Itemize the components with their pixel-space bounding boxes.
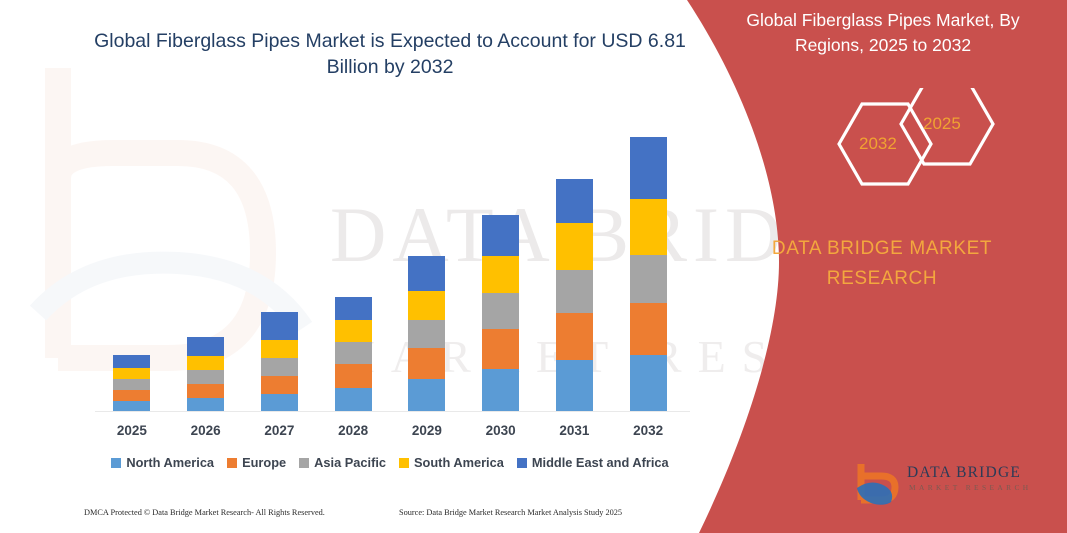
bar-segment [187, 384, 224, 398]
brand-logo-tagline: MARKET RESEARCH [909, 483, 1032, 492]
bar-segment [556, 360, 593, 412]
bar-segment [187, 370, 224, 384]
chart-baseline [95, 411, 690, 412]
bar-segment [482, 256, 519, 293]
infographic-canvas: DATA BRIDGE MARKET RESEARCH Global Fiber… [0, 0, 1067, 533]
footer: DMCA Protected © Data Bridge Market Rese… [84, 508, 684, 524]
legend-label: Asia Pacific [314, 455, 386, 470]
bar-segment [408, 379, 445, 412]
hexagon-near-label: 2025 [923, 114, 961, 134]
bar-segment [261, 358, 298, 376]
brand-logo: DATA BRIDGE MARKET RESEARCH [855, 458, 1055, 510]
bar-2032 [630, 137, 667, 412]
chart-legend: North AmericaEuropeAsia PacificSouth Ame… [95, 455, 685, 470]
bar-segment [261, 394, 298, 412]
legend-item[interactable]: North America [111, 455, 214, 470]
right-brand-panel: Global Fiberglass Pipes Market, By Regio… [687, 0, 1067, 533]
bar-2029 [408, 256, 445, 412]
bar-segment [113, 379, 150, 390]
legend-swatch-icon [299, 458, 309, 468]
bar-segment [556, 270, 593, 313]
x-axis-label-2029: 2029 [392, 423, 462, 438]
bar-segment [556, 179, 593, 223]
legend-label: Middle East and Africa [532, 455, 669, 470]
legend-item[interactable]: Europe [227, 455, 286, 470]
legend-swatch-icon [399, 458, 409, 468]
bar-segment [187, 337, 224, 356]
bar-segment [630, 303, 667, 355]
x-axis-label-2027: 2027 [244, 423, 314, 438]
bar-segment [261, 376, 298, 394]
x-axis-label-2025: 2025 [97, 423, 167, 438]
legend-swatch-icon [227, 458, 237, 468]
bar-2030 [482, 215, 519, 412]
x-axis-label-2028: 2028 [318, 423, 388, 438]
brand-logo-mark-icon [855, 460, 905, 506]
right-panel-title: Global Fiberglass Pipes Market, By Regio… [723, 8, 1043, 58]
bar-segment [556, 313, 593, 360]
legend-swatch-icon [517, 458, 527, 468]
legend-swatch-icon [111, 458, 121, 468]
hexagon-group: 2032 2025 [777, 88, 1067, 208]
bar-segment [556, 223, 593, 270]
legend-item[interactable]: South America [399, 455, 504, 470]
bar-segment [335, 297, 372, 320]
bar-segment [187, 398, 224, 412]
bar-segment [630, 355, 667, 412]
bar-segment [335, 388, 372, 412]
footer-copyright: DMCA Protected © Data Bridge Market Rese… [84, 508, 325, 517]
bar-segment [261, 312, 298, 340]
bar-segment [630, 255, 667, 303]
x-axis-label-2030: 2030 [466, 423, 536, 438]
legend-item[interactable]: Asia Pacific [299, 455, 386, 470]
hexagon-outlines-icon [777, 88, 1067, 208]
hexagon-far-label: 2032 [859, 134, 897, 154]
page-title: Global Fiberglass Pipes Market is Expect… [90, 28, 690, 80]
bar-segment [335, 320, 372, 342]
bar-segment [113, 390, 150, 401]
bar-2025 [113, 355, 150, 412]
bar-segment [630, 199, 667, 255]
brand-logo-name: DATA BRIDGE [907, 464, 1021, 482]
bar-segment [187, 356, 224, 370]
legend-label: South America [414, 455, 504, 470]
right-panel-brand: DATA BRIDGE MARKET RESEARCH [727, 234, 1037, 294]
bar-2031 [556, 179, 593, 412]
legend-label: Europe [242, 455, 286, 470]
bar-2028 [335, 297, 372, 412]
x-axis-label-2032: 2032 [613, 423, 683, 438]
footer-source: Source: Data Bridge Market Research Mark… [399, 508, 622, 517]
chart-x-axis-labels: 20252026202720282029203020312032 [95, 423, 685, 445]
bar-segment [408, 291, 445, 320]
bar-2027 [261, 312, 298, 412]
bar-2026 [187, 337, 224, 412]
bar-segment [482, 369, 519, 412]
chart-plot-area [95, 110, 685, 412]
bar-segment [630, 137, 667, 199]
legend-label: North America [126, 455, 214, 470]
bar-segment [408, 320, 445, 348]
bar-segment [335, 342, 372, 364]
bar-segment [482, 293, 519, 329]
bar-segment [335, 364, 372, 388]
bar-segment [113, 355, 150, 368]
legend-item[interactable]: Middle East and Africa [517, 455, 669, 470]
bar-segment [408, 256, 445, 291]
bar-segment [408, 348, 445, 379]
x-axis-label-2026: 2026 [171, 423, 241, 438]
bar-segment [482, 329, 519, 369]
bar-segment [261, 340, 298, 358]
bar-segment [113, 368, 150, 379]
bar-segment [482, 215, 519, 256]
x-axis-label-2031: 2031 [539, 423, 609, 438]
